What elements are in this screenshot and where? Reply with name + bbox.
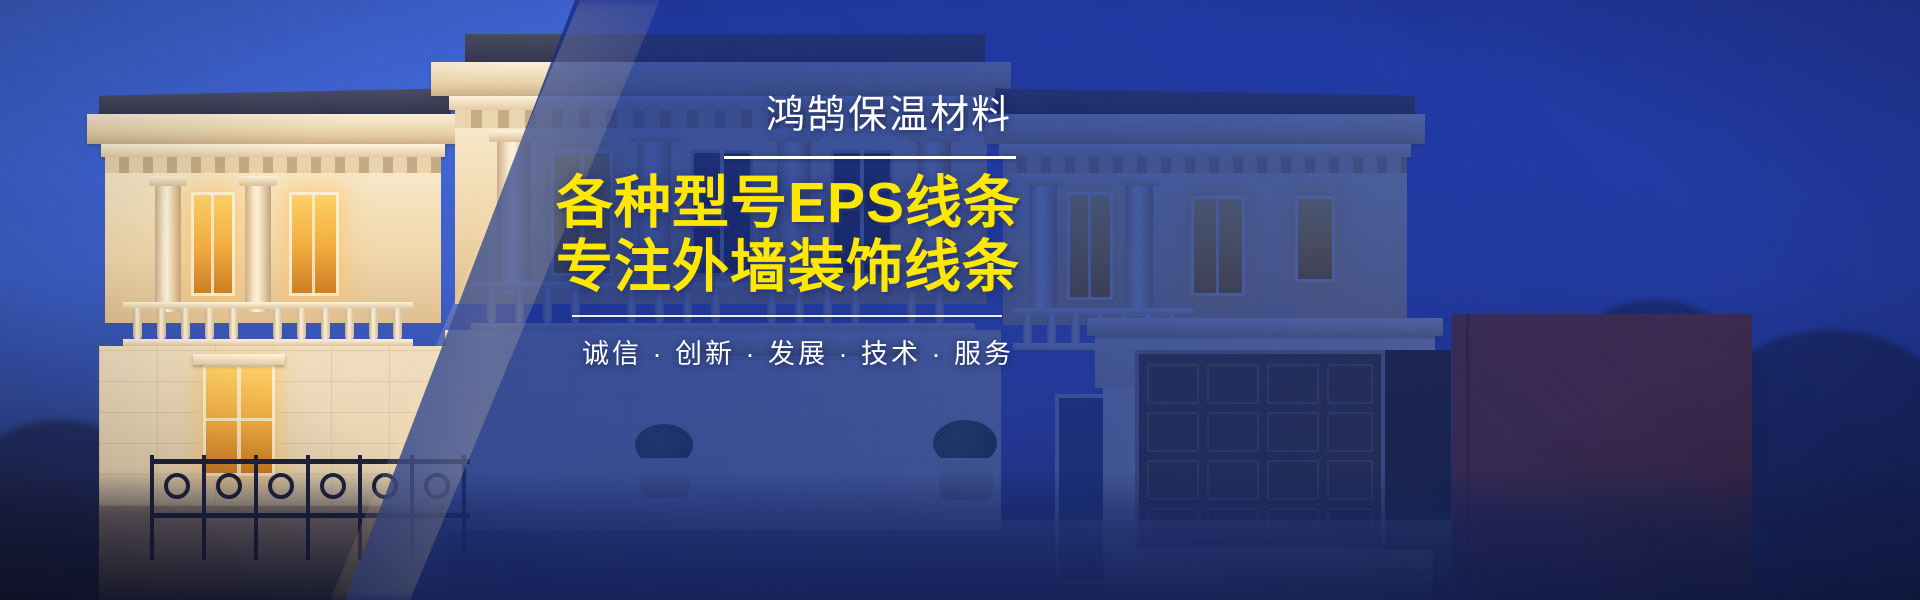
banner-copy: 鸿鹄保温材料 各种型号EPS线条 专注外墙装饰线条 诚信 · 创新 · 发展 ·… xyxy=(556,96,1016,371)
headline-group: 各种型号EPS线条 专注外墙装饰线条 xyxy=(556,172,1016,298)
headline-line-2: 专注外墙装饰线条 xyxy=(556,236,1016,298)
company-name: 鸿鹄保温材料 xyxy=(556,96,1016,135)
tagline: 诚信 · 创新 · 发展 · 技术 · 服务 xyxy=(556,337,1016,371)
divider-bottom xyxy=(572,315,1002,317)
divider-top xyxy=(724,156,1016,159)
headline-line-1: 各种型号EPS线条 xyxy=(556,172,1016,234)
promo-banner: 鸿鹄保温材料 各种型号EPS线条 专注外墙装饰线条 诚信 · 创新 · 发展 ·… xyxy=(0,0,1920,600)
